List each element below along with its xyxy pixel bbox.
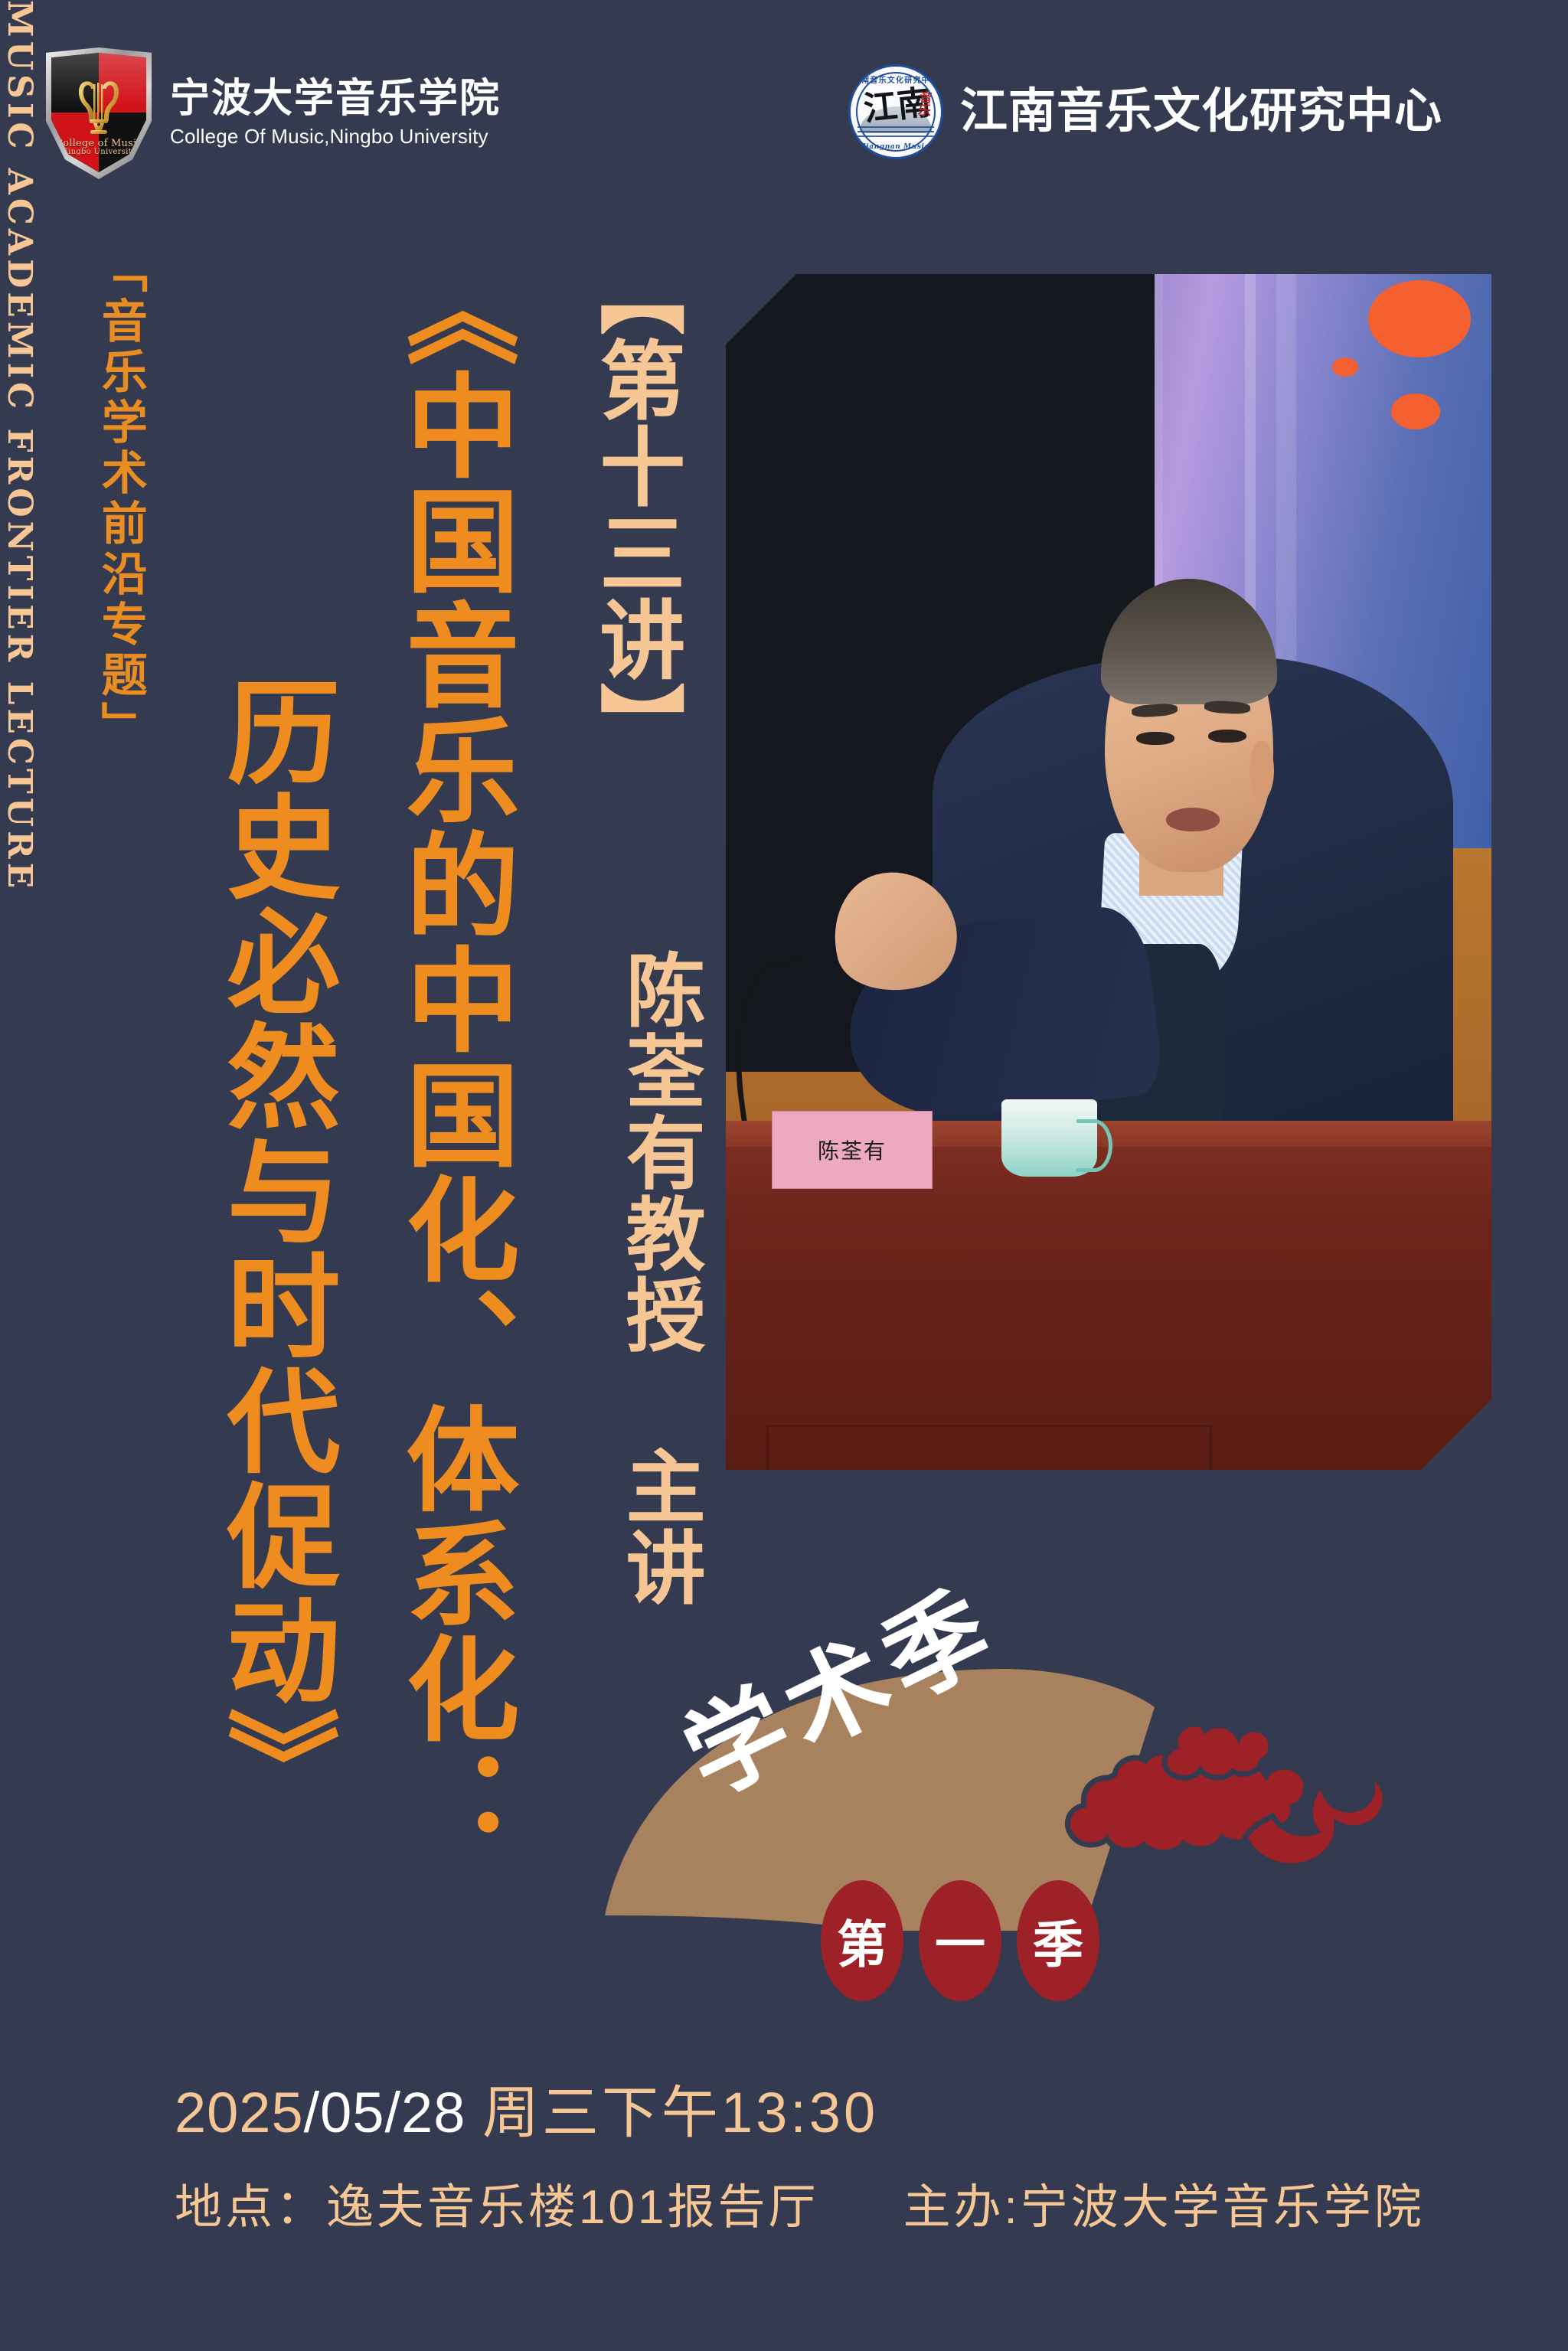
lyre-icon: [75, 72, 122, 136]
poster-header: College of Music Ningbo University 宁波大学音…: [0, 0, 1568, 230]
season-pills: 第 一 季: [821, 1880, 1099, 2001]
season-pill: 季: [1017, 1880, 1099, 2001]
title-main: 《中国音乐的中国化、体系化：: [395, 253, 511, 1860]
date-month-day: /05/28: [304, 2081, 466, 2144]
seal-center-side: 音乐: [915, 90, 930, 117]
logo-ningbo-university-music: College of Music Ningbo University 宁波大学音…: [46, 47, 501, 179]
season-badge: 学术季 第 一 季: [605, 1660, 1470, 2012]
weekday-time: 周三下午13:30: [482, 2081, 878, 2144]
nameplate: 陈荃有: [772, 1111, 933, 1189]
event-datetime: 2025/05/28 周三下午13:30: [175, 2067, 878, 2149]
speaker-name: 陈荃有教授 主讲: [617, 949, 698, 1608]
seal-arc-bottom-text: Jiangnan Music: [851, 143, 941, 151]
speaker-eye: [1208, 730, 1246, 743]
organizer-label: 主办:: [903, 2168, 1020, 2237]
logo-right-title-cn: 江南音乐文化研究中心: [960, 88, 1442, 136]
venue-value: 逸夫音乐楼101报告厅: [326, 2168, 818, 2237]
organizer-value: 宁波大学音乐学院: [1021, 2168, 1425, 2237]
event-venue-organizer: 地点：逸夫音乐楼101报告厅 主办:宁波大学音乐学院: [175, 2168, 1476, 2237]
season-pill: 第: [821, 1880, 903, 2001]
date-year: 2025: [175, 2081, 304, 2144]
shield-line1: College of Music: [51, 139, 146, 149]
decor-circle-icon: [1368, 280, 1471, 358]
topic-label: 「音乐学术前沿专题」: [96, 247, 143, 752]
title-sub: 历史必然与时代促动》: [216, 674, 332, 1822]
podium: [726, 1147, 1491, 1470]
seal-center-main: 江南: [862, 89, 932, 124]
teacup-icon: [1001, 1099, 1097, 1177]
decor-circle-icon: [1332, 358, 1358, 377]
decor-circle-icon: [1391, 393, 1440, 429]
logo-title-en: College Of Music,Ningbo University: [170, 125, 501, 149]
circular-seal-icon: 江南音乐文化研究中心 江南 音乐 Jiangnan Music: [848, 64, 943, 159]
speaker-photo: 陈荃有: [726, 274, 1491, 1470]
shield-lyre-icon: College of Music Ningbo University: [46, 47, 152, 179]
logo-jiangnan-research-center: 江南音乐文化研究中心 江南 音乐 Jiangnan Music 江南音乐文化研究…: [848, 64, 1442, 159]
speaker-ear: [1249, 740, 1274, 800]
logo-title-cn: 宁波大学音乐学院: [170, 78, 501, 120]
speaker-mouth: [1166, 808, 1220, 831]
speaker-eye: [1136, 732, 1174, 745]
poster-root: College of Music Ningbo University 宁波大学音…: [0, 0, 1568, 2351]
venue-label: 地点：: [175, 2168, 326, 2237]
season-pill: 一: [919, 1880, 1001, 2001]
lecture-number: 【第十三讲】: [591, 250, 678, 769]
